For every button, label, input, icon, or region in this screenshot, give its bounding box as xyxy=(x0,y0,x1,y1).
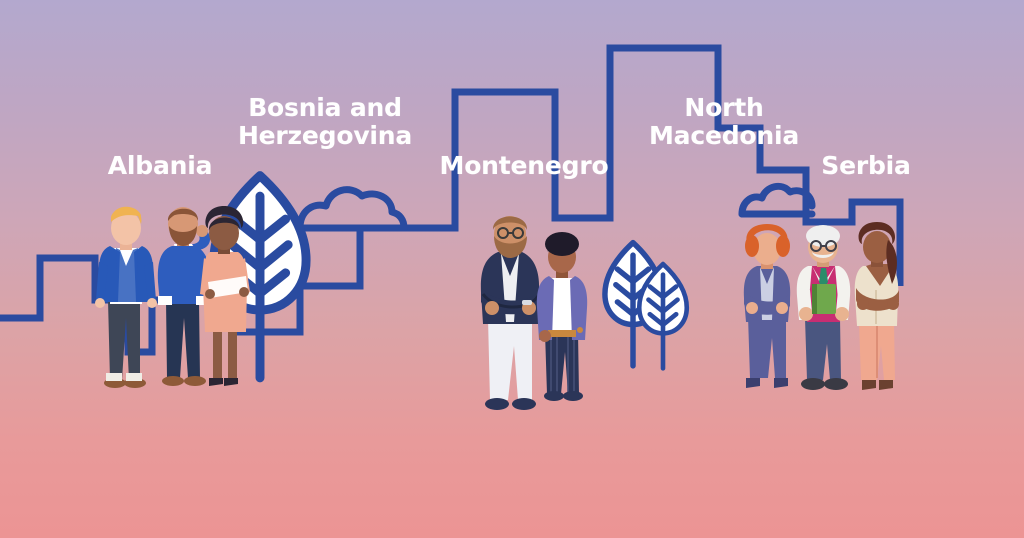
footer-bar: URBACT ★ ★ ★ ★ xyxy=(0,433,1024,538)
country-label-north-macedonia: North Macedonia xyxy=(640,94,808,150)
person-elder-vest xyxy=(797,225,850,390)
person-blonde-blazer xyxy=(95,207,157,388)
group-montenegro xyxy=(481,216,587,410)
country-label-bosnia-and-herzegovina: Bosnia and Herzegovina xyxy=(232,94,418,150)
person-redhead-suit xyxy=(744,224,790,388)
country-label-albania: Albania xyxy=(100,152,220,180)
group-serbia xyxy=(744,222,899,390)
country-label-montenegro: Montenegro xyxy=(432,152,616,180)
person-navy-blazer xyxy=(481,216,540,410)
country-label-serbia: Serbia xyxy=(812,152,920,180)
person-cream-top xyxy=(855,222,899,390)
tree-center-small xyxy=(639,264,687,368)
person-bearded-sweater xyxy=(158,207,210,386)
banner-root: Albania Bosnia and Herzegovina Montenegr… xyxy=(0,0,1024,538)
cloud-left-icon xyxy=(300,190,404,228)
person-purple-cardigan xyxy=(537,232,587,401)
cloud-right-icon xyxy=(742,186,812,214)
group-albania xyxy=(95,206,250,388)
